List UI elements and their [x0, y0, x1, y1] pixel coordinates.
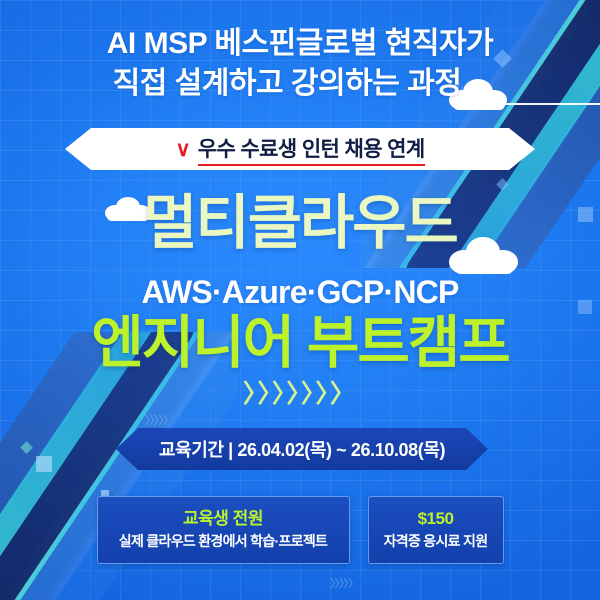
page-headline: AI MSP 베스핀글로벌 현직자가 직접 설계하고 강의하는 과정 — [0, 24, 600, 104]
highlight-ribbon-banner: ∨ 우수 수료생 인턴 채용 연계 — [65, 128, 535, 170]
info-box-heading: 교육생 전원 — [112, 510, 335, 527]
chevron-arrows-accent: 〉〉〉〉〉〉〉 — [0, 382, 600, 407]
info-box-all-students: 교육생 전원 실제 클라우드 환경에서 학습·프로젝트 — [97, 496, 350, 564]
promo-banner: 〉〉〉〉〉 〉〉〉〉〉 〉〉〉〉〉 〉〉〉〉〉 〉〉〉〉〉 AI MSP 베스핀… — [0, 0, 600, 600]
highlight-ribbon-text: 우수 수료생 인턴 채용 연계 — [198, 133, 425, 166]
info-box-body: 실제 클라우드 환경에서 학습·프로젝트 — [112, 534, 335, 549]
headline-line-2: 직접 설계하고 강의하는 과정 — [0, 64, 600, 104]
check-v-icon: ∨ — [175, 139, 190, 160]
info-box-body: 자격증 응시료 지원 — [383, 534, 489, 549]
title-cloud-providers: AWS·Azure·GCP·NCP — [0, 276, 600, 308]
title-main-line-1: 멀티클라우드 — [0, 194, 600, 253]
decor-chevrons-3: 〉〉〉〉〉 — [330, 575, 358, 591]
info-box-row: 교육생 전원 실제 클라우드 환경에서 학습·프로젝트 $150 자격증 응시료… — [0, 496, 600, 564]
title-main-line-2: 엔지니어 부트캠프 — [0, 315, 600, 372]
headline-line-1: AI MSP 베스핀글로벌 현직자가 — [0, 24, 600, 64]
decor-diamond-1 — [20, 441, 33, 454]
decor-square-4 — [36, 456, 52, 472]
decor-diamond-2 — [496, 178, 509, 191]
decor-chevrons-1: 〉〉〉〉〉 — [145, 412, 173, 428]
course-period-pill: 교육기간 | 26.04.02(목) ~ 26.10.08(목) — [116, 428, 488, 470]
info-box-heading: $150 — [383, 510, 489, 527]
course-period-text: 교육기간 | 26.04.02(목) ~ 26.10.08(목) — [159, 436, 445, 462]
info-box-exam-fee: $150 자격증 응시료 지원 — [368, 496, 504, 564]
